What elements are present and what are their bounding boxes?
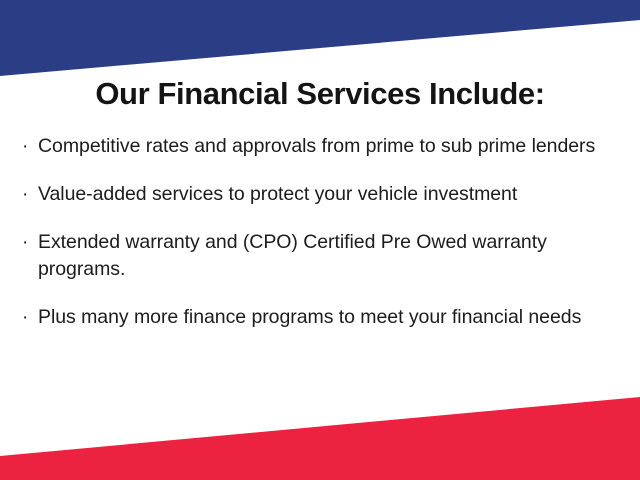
list-item-text: Value-added services to protect your veh… <box>38 181 606 208</box>
list-item: · Extended warranty and (CPO) Certified … <box>22 229 622 283</box>
list-item-text: Extended warranty and (CPO) Certified Pr… <box>38 229 606 283</box>
bullet-list: · Competitive rates and approvals from p… <box>22 133 622 331</box>
list-item-text: Plus many more finance programs to meet … <box>38 304 606 331</box>
list-item: · Competitive rates and approvals from p… <box>22 133 622 160</box>
list-item: · Plus many more finance programs to mee… <box>22 304 622 331</box>
red-band-shape <box>0 397 640 480</box>
blue-band-shape <box>0 0 640 76</box>
presentation-slide: Our Financial Services Include: · Compet… <box>0 0 640 480</box>
page-title: Our Financial Services Include: <box>0 76 640 112</box>
bullet-dot-icon: · <box>22 229 38 256</box>
list-item-text: Competitive rates and approvals from pri… <box>38 133 606 160</box>
bullet-dot-icon: · <box>22 181 38 208</box>
list-item: · Value-added services to protect your v… <box>22 181 622 208</box>
bullet-dot-icon: · <box>22 304 38 331</box>
bullet-dot-icon: · <box>22 133 38 160</box>
